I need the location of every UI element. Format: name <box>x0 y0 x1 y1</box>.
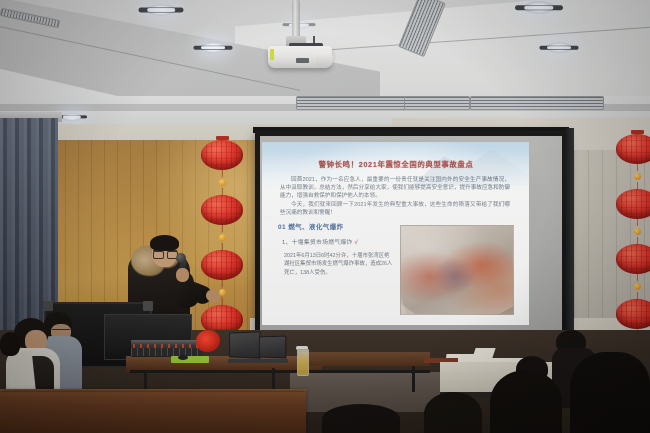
air-conditioning-vent <box>404 96 470 110</box>
table-cross-bar <box>130 370 430 373</box>
slide-list-item-label: 1、十堰集贸市场燃气爆炸 <box>282 240 353 246</box>
lantern-bead <box>634 228 641 235</box>
lantern-string <box>637 164 638 171</box>
ceiling-downlight <box>62 113 82 121</box>
ceiling-downlight <box>546 42 572 53</box>
person-head <box>424 392 482 433</box>
lantern-bead <box>219 234 226 241</box>
slide-paragraph: 回首2021，作为一名应急人，最重要的一份责任就是关注国内外的安全生产事故情况，… <box>280 176 510 200</box>
red-lantern-icon <box>616 134 650 164</box>
lantern-string <box>637 182 638 189</box>
person-head <box>570 352 650 433</box>
red-lantern-icon <box>616 244 650 274</box>
red-lantern-icon <box>201 250 243 280</box>
slide-body-text: 回首2021，作为一名应急人，最重要的一份责任就是关注国内外的安全生产事故情况，… <box>280 176 510 218</box>
presenter-glasses <box>153 250 177 257</box>
person-head <box>490 370 562 433</box>
case-corner <box>43 301 53 311</box>
tissue-box <box>472 348 495 358</box>
laptop-left <box>228 332 262 363</box>
slide-check-mark: √ <box>355 240 358 246</box>
downlight-bulb <box>524 5 553 9</box>
slide-list-item: 1、十堰集贸市场燃气爆炸 √ <box>282 237 402 246</box>
slide-rescue-photo <box>400 225 514 315</box>
glasses-lens-left <box>153 251 164 259</box>
red-lantern-icon <box>616 189 650 219</box>
lantern-string <box>637 219 638 226</box>
computer-mouse <box>178 355 188 360</box>
downlight-bulb <box>63 116 81 119</box>
laptop-screen <box>259 335 286 358</box>
slide-detail-text: 2021年6月13日6时42分许，十堰市张湾区艳湖社区集贸市场发生燃气爆炸事故，… <box>284 252 394 277</box>
laptop-screen <box>229 331 260 359</box>
projected-slide: 警钟长鸣！2021年震惊全国的典型事故盘点 回首2021，作为一名应急人，最重要… <box>262 142 529 325</box>
audience-desk-front <box>0 392 306 433</box>
downlight-bulb <box>147 8 175 12</box>
projector-port <box>296 58 309 63</box>
laptop-right <box>258 336 288 363</box>
lantern-bead <box>219 179 226 186</box>
air-conditioning-vent <box>470 96 604 110</box>
presenter-table-right <box>300 352 430 366</box>
ceiling-downlight <box>523 1 555 14</box>
person-head <box>322 404 400 433</box>
downlight-bulb <box>547 46 571 50</box>
projector-lens <box>316 52 333 67</box>
lantern-string <box>637 292 638 299</box>
red-lantern-icon <box>201 140 243 170</box>
lantern-string <box>222 225 223 232</box>
case-corner <box>143 301 153 311</box>
lantern-string <box>637 237 638 244</box>
lantern-string <box>222 188 223 195</box>
laptop-keyboard-base <box>258 359 288 363</box>
lantern-bead <box>634 173 641 180</box>
lantern-string <box>222 170 223 177</box>
presenter-hair <box>150 235 179 251</box>
presenter-left-hand <box>176 268 189 282</box>
glass-tea-cup <box>297 349 309 376</box>
slide-section-heading: 01 燃气、液化气爆炸 <box>278 222 344 231</box>
mixer-faceplate <box>131 348 203 356</box>
ceiling-downlight <box>146 4 176 16</box>
conference-room-photo: 警钟长鸣！2021年震惊全国的典型事故盘点 回首2021，作为一名应急人，最重要… <box>0 0 650 433</box>
air-conditioning-vent <box>296 96 406 110</box>
projector-label-tag <box>270 49 274 60</box>
slide-photo-texture <box>401 226 513 314</box>
person-hair <box>0 332 20 356</box>
lantern-bead <box>634 283 641 290</box>
slide-title: 警钟长鸣！2021年震惊全国的典型事故盘点 <box>276 159 516 170</box>
red-lantern-icon <box>616 299 650 329</box>
laptop-keyboard-base <box>228 359 262 363</box>
green-mousepad <box>171 356 209 363</box>
ceiling-downlight <box>200 42 226 53</box>
lantern-string <box>222 298 223 305</box>
lantern-string <box>222 243 223 250</box>
lantern-string <box>222 280 223 287</box>
lantern-string <box>637 274 638 281</box>
microphone-head <box>176 253 186 263</box>
red-lantern-icon <box>201 195 243 225</box>
screen-side-post <box>566 128 574 346</box>
downlight-bulb <box>201 46 225 50</box>
slide-paragraph: 今天，我们就来回顾一下2021年发生的典型重大事故，这些生命的陨落又带给了我们哪… <box>280 201 510 217</box>
person-glasses <box>52 329 70 334</box>
table-leg <box>412 366 415 392</box>
